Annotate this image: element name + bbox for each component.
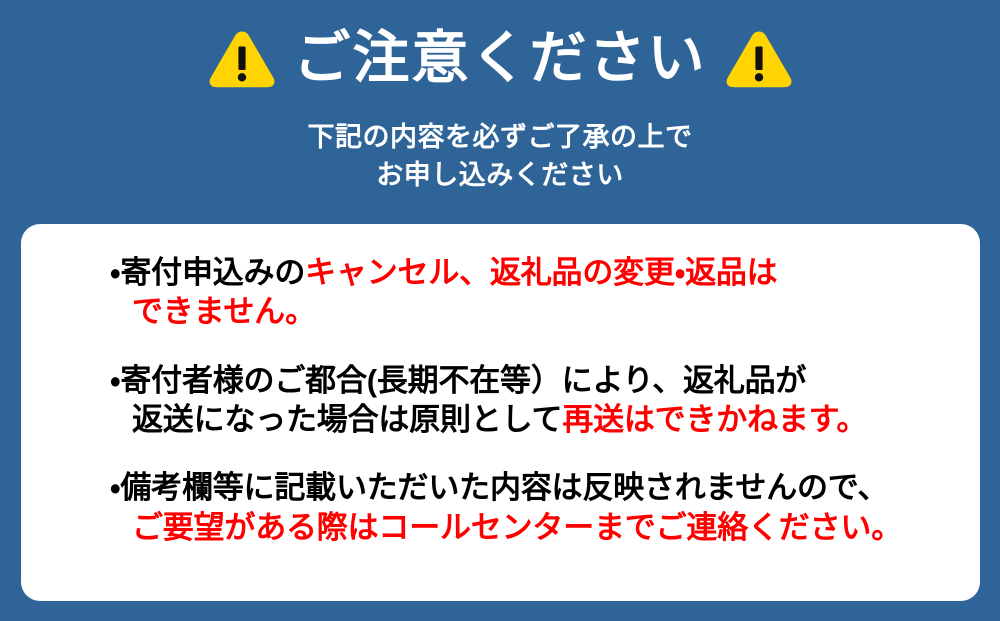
notice-line: ・備考欄等に記載いただいた内容は反映されませんので、 [110,468,962,507]
notice-item: ・備考欄等に記載いただいた内容は反映されませんので、ご要望がある際はコールセンタ… [110,468,962,547]
warning-triangle-icon [725,28,793,90]
title-row: ご注意ください [0,28,1000,90]
warning-triangle-icon [208,28,276,90]
banner-subtitle-line-2: お申し込みください [0,156,1000,194]
notice-text-emphasis: ご要望がある際はコールセンターまでご連絡ください。 [132,510,902,545]
notice-text-emphasis: できません。 [132,294,316,329]
notice-text: 返送になった場合は原則として [132,402,562,437]
page-title: ご注意ください [294,28,707,90]
notice-line: ・寄付者様のご都合(長期不在等）により、返礼品が [110,361,962,400]
notice-line: ご要望がある際はコールセンターまでご連絡ください。 [110,508,962,547]
banner-header: ご注意ください 下記の内容を必ずご了承の上で お申し込みください [0,0,1000,214]
notice-line: できません。 [110,292,962,331]
notice-item: ・寄付者様のご都合(長期不在等）により、返礼品が返送になった場合は原則として再送… [110,361,962,440]
notice-text-emphasis: 再送はできかねます。 [562,402,867,437]
notice-line: ・寄付申込みのキャンセル、返礼品の変更・返品は [110,253,962,292]
notice-text: ・寄付者様のご都合(長期不在等）により、返礼品が [110,363,806,398]
notice-item: ・寄付申込みのキャンセル、返礼品の変更・返品はできません。 [110,253,962,332]
banner-subtitle: 下記の内容を必ずご了承の上で お申し込みください [0,118,1000,195]
notice-card: ・寄付申込みのキャンセル、返礼品の変更・返品はできません。・寄付者様のご都合(長… [21,224,980,601]
notice-banner: ご注意ください 下記の内容を必ずご了承の上で お申し込みください ・寄付申込みの… [0,0,1000,621]
banner-subtitle-line-1: 下記の内容を必ずご了承の上で [0,118,1000,156]
notice-line: 返送になった場合は原則として再送はできかねます。 [110,400,962,439]
notice-text: ・寄付申込みの [110,255,305,290]
notice-list: ・寄付申込みのキャンセル、返礼品の変更・返品はできません。・寄付者様のご都合(長… [110,253,962,547]
notice-text-emphasis: キャンセル、返礼品の変更・返品は [305,255,777,290]
notice-text: ・備考欄等に記載いただいた内容は反映されませんので、 [110,470,888,505]
